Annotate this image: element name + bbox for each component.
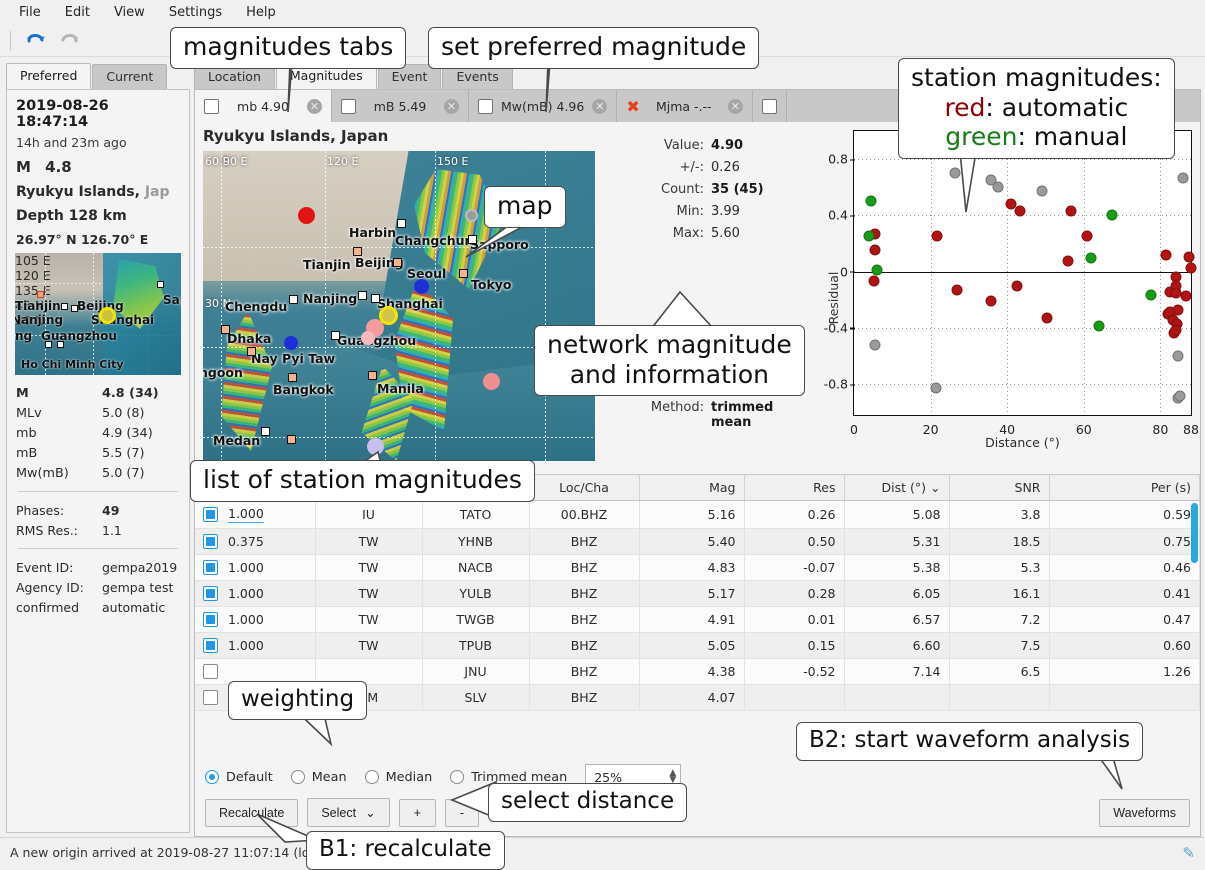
- cell-snr: 3.8: [949, 501, 1049, 529]
- info-value-text: 35 (45): [711, 182, 799, 197]
- y-axis-tick: 0.4: [828, 208, 848, 223]
- gridline-horizontal: [854, 328, 1191, 329]
- annotation-line-1: network magnitude: [547, 330, 792, 360]
- vertical-scrollbar[interactable]: [1191, 503, 1198, 563]
- cell-net: TW: [315, 607, 422, 633]
- annotation-magnitudes-tabs: magnitudes tabs: [170, 27, 406, 69]
- event-depth: Depth 128 km: [16, 208, 180, 224]
- cell-res: -0.07: [744, 555, 844, 581]
- menu-help[interactable]: Help: [235, 2, 287, 23]
- radio-label: Mean: [312, 770, 347, 785]
- scatter-point-automatic[interactable]: [1065, 206, 1076, 217]
- magnitude-type: mb: [16, 426, 102, 441]
- cell-loc: BHZ: [529, 555, 639, 581]
- undo-arrow-icon[interactable]: [21, 28, 49, 54]
- event-id-label: Event ID:: [16, 560, 102, 575]
- cell-mag: 5.17: [639, 581, 744, 607]
- cell-sta: SLV: [422, 685, 529, 711]
- cell-snr: 16.1: [949, 581, 1049, 607]
- cell-snr: 6.5: [949, 659, 1049, 685]
- row-checkbox[interactable]: [203, 612, 218, 627]
- cell-sta: YULB: [422, 581, 529, 607]
- cell-sel[interactable]: 1.000: [195, 581, 315, 607]
- main-area: Preferred Current 2019-08-26 18:47:14 14…: [0, 57, 1205, 837]
- map-city-chengdu: Chengdu: [225, 299, 287, 314]
- annotation-green-rest: : manual: [1017, 122, 1127, 151]
- radio-mean[interactable]: Mean: [291, 770, 347, 785]
- cell-snr: 18.5: [949, 529, 1049, 555]
- cell-loc: BHZ: [529, 633, 639, 659]
- minimap-city-tianjin: Tianjin: [15, 299, 61, 313]
- scatter-point-automatic[interactable]: [931, 231, 942, 242]
- cell-loc: BHZ: [529, 529, 639, 555]
- col-dist-label: Dist (°): [882, 480, 927, 495]
- map-city-tokyo: Tokyo: [471, 277, 512, 292]
- callout-tail: [940, 150, 1010, 220]
- menu-view[interactable]: View: [103, 2, 156, 23]
- scatter-point-automatic[interactable]: [1184, 251, 1195, 262]
- redo-arrow-icon: [55, 28, 83, 54]
- cell-per: 0.47: [1049, 607, 1200, 633]
- info-value-text: 3.99: [711, 204, 799, 219]
- gridline-horizontal: [854, 384, 1191, 385]
- col-mag[interactable]: Mag: [639, 475, 744, 501]
- info-value-text: trimmed mean: [711, 400, 799, 430]
- annotation-set-preferred-magnitude: set preferred magnitude: [428, 27, 759, 69]
- cell-sta: NACB: [422, 555, 529, 581]
- waveforms-button[interactable]: Waveforms: [1099, 799, 1190, 827]
- cell-sel[interactable]: 1.000: [195, 555, 315, 581]
- radio-label: Default: [226, 770, 273, 785]
- cell-loc: BHZ: [529, 685, 639, 711]
- col-dist[interactable]: Dist (°) ⌄: [844, 475, 949, 501]
- cell-per: 0.46: [1049, 555, 1200, 581]
- cell-per: 0.75: [1049, 529, 1200, 555]
- cell-mag: 4.07: [639, 685, 744, 711]
- scatter-point-unused[interactable]: [870, 339, 881, 350]
- scatter-point-automatic[interactable]: [1180, 291, 1191, 302]
- scatter-point-unused[interactable]: [930, 382, 941, 393]
- cell-dist: 7.14: [844, 659, 949, 685]
- y-axis-tick: -0.4: [824, 320, 848, 335]
- magnitude-type: mB: [16, 446, 102, 461]
- info-label: Max:: [595, 226, 711, 241]
- cell-dist: [844, 685, 949, 711]
- row-checkbox[interactable]: [203, 690, 218, 705]
- scatter-point-unused[interactable]: [1174, 391, 1185, 402]
- map-label-90e: 90 E: [223, 155, 247, 168]
- scatter-point-unused[interactable]: [1037, 186, 1048, 197]
- gridline-horizontal: [854, 159, 1191, 160]
- map-station-marker: [361, 331, 375, 345]
- scatter-point-unused[interactable]: [1178, 173, 1189, 184]
- event-region: Ryukyu Islands, Jap: [16, 184, 180, 200]
- cell-sta: JNU: [422, 659, 529, 685]
- scatter-point-automatic[interactable]: [1081, 231, 1092, 242]
- cell-net: TW: [315, 633, 422, 659]
- event-coordinates: 26.97° N 126.70° E: [16, 232, 180, 247]
- event-summary-box: 2019-08-26 18:47:14 14h and 23m ago M 4.…: [6, 89, 190, 833]
- row-weight[interactable]: 0.375: [228, 534, 264, 549]
- table-body: 1.000 IU TATO 00.BHZ 5.16 0.26 5.08 3.8 …: [195, 501, 1200, 711]
- cell-mag: 5.05: [639, 633, 744, 659]
- cell-snr: 5.3: [949, 555, 1049, 581]
- info-value-text: 0.26: [711, 160, 799, 175]
- error-x-icon: ✖: [626, 99, 639, 114]
- radio-label: Median: [386, 770, 433, 785]
- cell-snr: [949, 685, 1049, 711]
- magnitude-row: mB 5.5 (7): [16, 443, 180, 463]
- pencil-icon[interactable]: ✎: [1182, 844, 1195, 862]
- radio-dot[interactable]: [365, 770, 379, 784]
- magnitude-tab-checkbox[interactable]: [204, 99, 219, 114]
- event-magnitude-value: 4.8: [45, 158, 72, 176]
- magnitude-tab-checkbox[interactable]: [478, 99, 493, 114]
- agency-id-label: Agency ID:: [16, 580, 102, 595]
- phases-label: Phases:: [16, 503, 102, 518]
- menu-settings[interactable]: Settings: [158, 2, 233, 23]
- magnitude-row: mb 4.9 (34): [16, 423, 180, 443]
- cell-dist: 5.31: [844, 529, 949, 555]
- scatter-point-manual[interactable]: [1094, 320, 1105, 331]
- annotation-network-magnitude: network magnitude and information: [534, 325, 805, 396]
- info-max: Max:5.60: [595, 222, 799, 244]
- tab-current[interactable]: Current: [92, 64, 167, 89]
- annotation-line-2: red: automatic: [911, 93, 1162, 123]
- row-checkbox[interactable]: [203, 638, 218, 653]
- menu-edit[interactable]: Edit: [54, 2, 101, 23]
- rms-value: 1.1: [102, 523, 122, 538]
- cell-loc: BHZ: [529, 581, 639, 607]
- cell-per: 0.60: [1049, 633, 1200, 659]
- y-axis-label: Residual: [826, 272, 841, 325]
- annotation-b2-waveform: B2: start waveform analysis: [796, 722, 1143, 761]
- cell-sel[interactable]: 1.000: [195, 607, 315, 633]
- cell-loc: 00.BHZ: [529, 501, 639, 529]
- menu-file[interactable]: File: [8, 2, 52, 23]
- col-res[interactable]: Res: [744, 475, 844, 501]
- info-min: Min:3.99: [595, 200, 799, 222]
- cell-per: [1049, 685, 1200, 711]
- event-magnitude: M 4.8: [16, 158, 180, 176]
- minimap-city-sapporo: Sapp: [163, 293, 181, 307]
- magnitude-value: 5.0 (7): [102, 466, 145, 481]
- info-uncertainty: +/-:0.26: [595, 156, 799, 178]
- radio-median[interactable]: Median: [365, 770, 433, 785]
- map-epicenter: [379, 306, 398, 325]
- row-checkbox[interactable]: [203, 586, 218, 601]
- map-area: Ryukyu Islands, Japan: [195, 122, 595, 474]
- scatter-point-automatic[interactable]: [1170, 324, 1181, 335]
- radio-dot[interactable]: [205, 770, 219, 784]
- magnitude-row: Mw(mB) 5.0 (7): [16, 463, 180, 483]
- close-icon[interactable]: ✕: [728, 99, 743, 114]
- tab-preferred[interactable]: Preferred: [6, 63, 91, 89]
- event-time: 2019-08-26 18:47:14: [16, 98, 180, 130]
- magnitude-value: 4.9 (34): [102, 426, 153, 441]
- chevron-down-icon: ⌄: [930, 480, 940, 495]
- cell-sta: YHNB: [422, 529, 529, 555]
- magnitude-value: 5.0 (8): [102, 406, 145, 421]
- event-depth-value: 128 km: [69, 208, 127, 224]
- magnitude-type: M: [16, 386, 102, 401]
- map-city-naypyitaw: Nay Pyi Taw: [251, 351, 335, 366]
- scatter-point-automatic[interactable]: [870, 244, 881, 255]
- col-loccha[interactable]: Loc/Cha: [529, 475, 639, 501]
- magnitude-tab-extra[interactable]: [753, 90, 787, 123]
- magnitude-tab-mB[interactable]: mB 5.49 ✕: [332, 90, 469, 123]
- magnitude-list: M 4.8 (34) MLv 5.0 (8) mb 4.9 (34) mB 5.…: [16, 383, 180, 483]
- row-weight[interactable]: 1.000: [228, 612, 264, 627]
- scatter-point-automatic[interactable]: [1041, 312, 1052, 323]
- cell-per: 1.26: [1049, 659, 1200, 685]
- cell-res: 0.26: [744, 501, 844, 529]
- scatter-point-automatic[interactable]: [1015, 206, 1026, 217]
- info-value-text: 5.60: [711, 226, 799, 241]
- agency-id-row: Agency ID: gempa test: [16, 577, 180, 597]
- map-city-medan: Medan: [213, 433, 260, 448]
- col-snr[interactable]: SNR: [949, 475, 1049, 501]
- magnitude-value: 4.8 (34): [102, 386, 159, 401]
- cell-res: [744, 685, 844, 711]
- confirmed-label: confirmed: [16, 600, 102, 615]
- event-age: 14h and 23m ago: [16, 135, 180, 150]
- scatter-point-manual[interactable]: [863, 230, 874, 241]
- table-row[interactable]: 1.000 TW NACB BHZ 4.83 -0.07 5.38 5.3 0.…: [195, 555, 1200, 581]
- radio-default[interactable]: Default: [205, 770, 273, 785]
- cell-mag: 5.16: [639, 501, 744, 529]
- info-value-text: 4.90: [711, 138, 799, 153]
- event-id-value: gempa2019: [102, 560, 177, 575]
- event-region-main: Ryukyu Islands,: [16, 184, 140, 200]
- divider: [18, 491, 178, 492]
- agency-id-value: gempa test: [102, 580, 173, 595]
- y-axis-tick: 0: [840, 264, 848, 279]
- annotation-line-1: station magnitudes:: [911, 63, 1162, 93]
- table-row[interactable]: 0.375 TW YHNB BHZ 5.40 0.50 5.31 18.5 0.…: [195, 529, 1200, 555]
- cell-mag: 5.40: [639, 529, 744, 555]
- cell-dist: 6.05: [844, 581, 949, 607]
- cell-net: TW: [315, 529, 422, 555]
- event-id-row: Event ID: gempa2019: [16, 557, 180, 577]
- row-checkbox[interactable]: [203, 560, 218, 575]
- table-row[interactable]: 1.000 TW TPUB BHZ 5.05 0.15 6.60 7.5 0.6…: [195, 633, 1200, 659]
- increase-distance-button[interactable]: +: [399, 799, 436, 827]
- minimap-city-guangzhou: Guangzhou: [41, 329, 117, 343]
- phases-value: 49: [102, 503, 119, 518]
- row-checkbox[interactable]: [203, 507, 218, 522]
- chevron-down-icon: ⌄: [365, 805, 375, 820]
- spinner-arrows-icon[interactable]: ▲▼: [669, 770, 676, 784]
- action-button-row: Recalculate Select ⌄ + - Waveforms: [195, 794, 1200, 836]
- menu-bar: File Edit View Settings Help: [0, 0, 1205, 25]
- mini-map[interactable]: 105 E 120 E 135 E 45 N 30 N Tianjin Beij…: [15, 253, 181, 375]
- toolbar-separator: [10, 31, 11, 51]
- row-checkbox[interactable]: [203, 664, 218, 679]
- phases-row: Phases: 49: [16, 500, 180, 520]
- cell-dist: 5.38: [844, 555, 949, 581]
- map-label-150e: 150 E: [437, 155, 468, 168]
- cell-dist: 6.60: [844, 633, 949, 659]
- cell-mag: 4.38: [639, 659, 744, 685]
- map-city-bangkok: Bangkok: [273, 382, 334, 397]
- rms-label: RMS Res.:: [16, 523, 102, 538]
- row-weight[interactable]: 1.000: [228, 560, 264, 575]
- info-label: Min:: [595, 204, 711, 219]
- scatter-point-manual[interactable]: [871, 265, 882, 276]
- scatter-point-automatic[interactable]: [986, 296, 997, 307]
- page-title: Ryukyu Islands, Japan: [203, 127, 595, 145]
- info-label: Value:: [595, 138, 711, 153]
- magnitude-row: MLv 5.0 (8): [16, 403, 180, 423]
- magnitude-type: MLv: [16, 406, 102, 421]
- cell-snr: 7.2: [949, 607, 1049, 633]
- radio-dot[interactable]: [291, 770, 305, 784]
- averaging-method-controls: Default Mean Median Trimmed mean 25% ▲▼: [195, 756, 1200, 794]
- scatter-point-manual[interactable]: [1086, 252, 1097, 263]
- y-axis-tick: -0.8: [824, 377, 848, 392]
- info-method: Method:trimmed mean: [595, 396, 799, 433]
- annotation-b1-recalculate: B1: recalculate: [306, 831, 505, 870]
- map-station-marker: [298, 207, 315, 224]
- map-city-dhaka: Dhaka: [227, 331, 271, 346]
- col-per[interactable]: Per (s): [1049, 475, 1200, 501]
- magnitude-tab-label: mB 5.49: [364, 99, 436, 114]
- annotation-weighting: weighting: [228, 681, 367, 720]
- left-tab-row: Preferred Current: [6, 63, 192, 89]
- magnitude-type: Mw(mB): [16, 466, 102, 481]
- map-city-manila: Manila: [377, 381, 424, 396]
- cell-sta: TPUB: [422, 633, 529, 659]
- cell-sel[interactable]: 1.000: [195, 633, 315, 659]
- event-depth-label: Depth: [16, 208, 64, 224]
- info-label: +/-:: [595, 160, 711, 175]
- map-city-yangon: ngoon: [203, 365, 243, 380]
- cell-net: TW: [315, 581, 422, 607]
- annotation-line-3: green: manual: [911, 122, 1162, 152]
- map-label-120e: 120 E: [327, 155, 358, 168]
- cell-res: 0.28: [744, 581, 844, 607]
- status-bar: A new origin arrived at 2019-08-27 11:07…: [0, 837, 1205, 867]
- row-weight[interactable]: 1.000: [228, 506, 264, 523]
- cell-dist: 5.08: [844, 501, 949, 529]
- map-station-marker: [414, 279, 429, 294]
- map-city-harbin: Harbin: [349, 225, 396, 240]
- scatter-point-automatic[interactable]: [1161, 250, 1172, 261]
- cell-res: -0.52: [744, 659, 844, 685]
- close-icon[interactable]: ✕: [444, 99, 459, 114]
- annotation-station-magnitudes: station magnitudes: red: automatic green…: [898, 58, 1175, 159]
- scatter-point-automatic[interactable]: [868, 275, 879, 286]
- close-icon[interactable]: ✕: [592, 99, 607, 114]
- cell-sel[interactable]: 0.375: [195, 529, 315, 555]
- automatic-value: automatic: [102, 600, 165, 615]
- cell-per: 0.41: [1049, 581, 1200, 607]
- scatter-point-automatic[interactable]: [1063, 256, 1074, 267]
- minimap-city-hochiminh: Ho Chi Minh City: [21, 358, 124, 371]
- info-count: Count:35 (45): [595, 178, 799, 200]
- magnitude-tab-checkbox[interactable]: [762, 99, 777, 114]
- cell-res: 0.01: [744, 607, 844, 633]
- cell-snr: 7.5: [949, 633, 1049, 659]
- scatter-point-manual[interactable]: [866, 196, 877, 207]
- y-axis-tick: 0.8: [828, 152, 848, 167]
- minimap-city-nanjing: Nanjing: [15, 313, 63, 327]
- cell-mag: 4.91: [639, 607, 744, 633]
- cell-sel[interactable]: 1.000: [195, 501, 315, 529]
- status-row: confirmed automatic: [16, 597, 180, 617]
- row-weight[interactable]: 1.000: [228, 638, 264, 653]
- magnitude-tab-checkbox[interactable]: [341, 99, 356, 114]
- left-panel: Preferred Current 2019-08-26 18:47:14 14…: [0, 57, 192, 837]
- row-weight[interactable]: 1.000: [228, 586, 264, 601]
- scatter-point-automatic[interactable]: [1172, 304, 1183, 315]
- table-row[interactable]: 1.000 TW TWGB BHZ 4.91 0.01 6.57 7.2 0.4…: [195, 607, 1200, 633]
- event-region-truncated: Jap: [145, 184, 170, 200]
- info-label: Method:: [595, 400, 711, 430]
- magnitude-value: 5.5 (7): [102, 446, 145, 461]
- scatter-point-automatic[interactable]: [1185, 263, 1196, 274]
- annotation-map: map: [484, 186, 566, 228]
- annotation-list-station-magnitudes: list of station magnitudes: [190, 460, 535, 502]
- magnitude-tab-mjma[interactable]: ✖ Mjma -.-- ✕: [617, 90, 752, 123]
- cell-dist: 6.57: [844, 607, 949, 633]
- annotation-select-distance: select distance: [488, 783, 687, 822]
- map-station-marker: [284, 336, 298, 350]
- cell-mag: 4.83: [639, 555, 744, 581]
- cell-res: 0.50: [744, 529, 844, 555]
- cell-net: TW: [315, 555, 422, 581]
- scatter-point-automatic[interactable]: [1012, 280, 1023, 291]
- info-value: Value:4.90: [595, 134, 799, 156]
- cell-sta: TWGB: [422, 607, 529, 633]
- annotation-green-word: green: [945, 122, 1017, 151]
- cell-res: 0.15: [744, 633, 844, 659]
- scatter-point-manual[interactable]: [1145, 289, 1156, 300]
- minimap-city-ng: ng: [15, 329, 32, 343]
- cell-loc: BHZ: [529, 607, 639, 633]
- annotation-red-word: red: [944, 93, 985, 122]
- info-label: Count:: [595, 182, 711, 197]
- row-checkbox[interactable]: [203, 534, 218, 549]
- plot-canvas[interactable]: 020406080880.80.40-0.4-0.8: [853, 130, 1192, 416]
- map-city-tianjin: Tianjin: [303, 257, 351, 272]
- map-city-nanjing: Nanjing: [303, 291, 357, 306]
- map-station-marker: [483, 373, 500, 390]
- divider: [18, 548, 178, 549]
- map-city-seoul: Seoul: [407, 266, 446, 281]
- table-row[interactable]: 1.000 TW YULB BHZ 5.17 0.28 6.05 16.1 0.…: [195, 581, 1200, 607]
- annotation-line-2: and information: [547, 360, 792, 390]
- zero-reference-line: [854, 272, 1191, 274]
- cell-loc: BHZ: [529, 659, 639, 685]
- event-magnitude-label: M: [16, 158, 31, 176]
- cell-per: 0.59: [1049, 501, 1200, 529]
- x-axis-label: Distance (°): [853, 435, 1192, 450]
- scatter-point-manual[interactable]: [1107, 210, 1118, 221]
- magnitude-row: M 4.8 (34): [16, 383, 180, 403]
- magnitude-tab-label: Mjma -.--: [648, 99, 720, 114]
- scatter-point-automatic[interactable]: [951, 284, 962, 295]
- rms-row: RMS Res.: 1.1: [16, 520, 180, 540]
- scatter-point-unused[interactable]: [1172, 350, 1183, 361]
- annotation-red-rest: : automatic: [985, 93, 1128, 122]
